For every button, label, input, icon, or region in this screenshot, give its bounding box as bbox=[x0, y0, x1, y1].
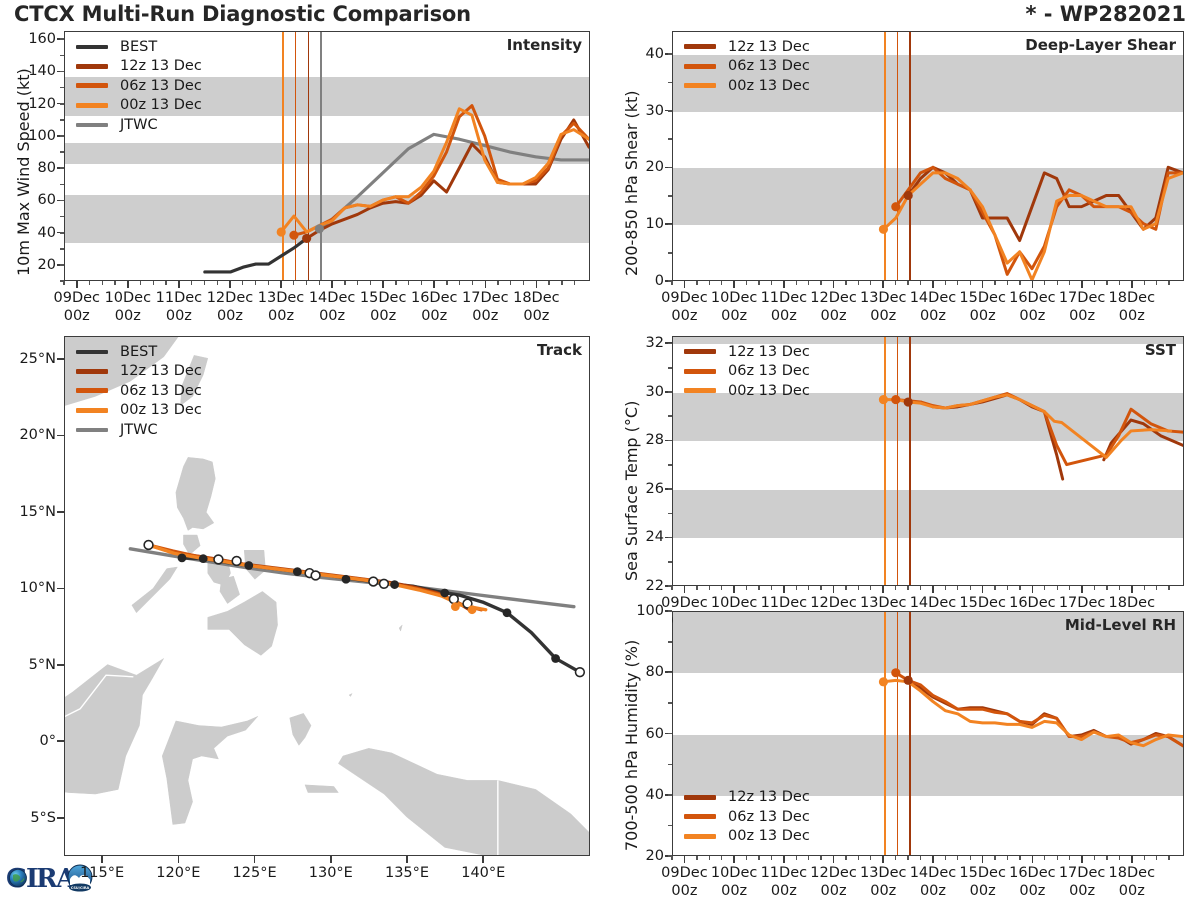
series-line-06z-13-dec bbox=[896, 673, 1183, 746]
legend-label-4: JTWC bbox=[120, 422, 158, 438]
track-marker-open-4 bbox=[311, 571, 320, 580]
track-marker-open-0 bbox=[144, 541, 153, 550]
p-sst-ytick-0: 22 bbox=[616, 578, 664, 594]
track-xtick-4: 135°E bbox=[367, 865, 447, 883]
series-line-best bbox=[205, 238, 307, 272]
storm-identifier: * - WP282021 bbox=[1025, 2, 1186, 26]
p-intensity-ytick-0: 20 bbox=[8, 257, 56, 273]
track-marker-forecast-1 bbox=[451, 602, 460, 611]
init-marker-1 bbox=[891, 668, 900, 677]
panel-intensity[interactable]: Intensity BEST12z 13 Dec06z 13 Dec00z 13… bbox=[64, 31, 590, 281]
xtick-hour: 00z bbox=[920, 308, 946, 324]
panel-mid-level-rh[interactable]: Mid-Level RH 12z 13 Dec06z 13 Dec00z 13 … bbox=[672, 611, 1184, 856]
track-title: Track bbox=[537, 341, 582, 359]
legend-label-2: 00z 13 Dec bbox=[728, 78, 810, 94]
legend-swatch-2 bbox=[76, 83, 108, 88]
legend-label-4: JTWC bbox=[120, 117, 158, 133]
page-title: CTCX Multi-Run Diagnostic Comparison bbox=[14, 2, 471, 26]
svg-text:CSU/CIRA: CSU/CIRA bbox=[71, 886, 90, 890]
legend-label-0: BEST bbox=[120, 344, 157, 360]
xtick-day: 18Dec bbox=[513, 290, 560, 306]
track-xtick-2: 125°E bbox=[215, 865, 295, 883]
legend-label-1: 12z 13 Dec bbox=[120, 58, 202, 74]
p-rh-xtick-9: 18Dec00z bbox=[1097, 865, 1167, 900]
track-marker-filled-6 bbox=[440, 589, 449, 598]
p-sst-ytick-1: 24 bbox=[616, 529, 664, 545]
legend-item-2: 06z 13 Dec bbox=[76, 76, 202, 96]
legend-swatch-1 bbox=[76, 369, 108, 374]
legend-swatch-1 bbox=[684, 369, 716, 374]
legend-item-1: 06z 13 Dec bbox=[684, 807, 810, 827]
legend-label-1: 06z 13 Dec bbox=[728, 809, 810, 825]
track-marker-filled-4 bbox=[342, 575, 351, 584]
legend-item-2: 06z 13 Dec bbox=[76, 381, 202, 401]
legend-swatch-2 bbox=[76, 388, 108, 393]
init-marker-0 bbox=[879, 395, 888, 404]
legend-label-1: 06z 13 Dec bbox=[728, 363, 810, 379]
init-marker-0 bbox=[879, 677, 888, 686]
track-marker-filled-2 bbox=[244, 561, 253, 570]
series-line-12z-13-dec bbox=[908, 167, 1183, 240]
legend-label-3: 00z 13 Dec bbox=[120, 402, 202, 418]
legend-swatch-0 bbox=[76, 45, 108, 49]
legend-swatch-4 bbox=[76, 428, 108, 432]
track-ytick-2: 5°N bbox=[4, 657, 56, 673]
legend-item-2: 00z 13 Dec bbox=[684, 381, 810, 401]
p-sst-ytick-4: 30 bbox=[616, 384, 664, 400]
p-shear-ytick-4: 40 bbox=[616, 46, 664, 62]
xtick-hour: 00z bbox=[671, 308, 697, 324]
legend-swatch-2 bbox=[684, 83, 716, 88]
legend-label-0: 12z 13 Dec bbox=[728, 789, 810, 805]
legend-item-2: 00z 13 Dec bbox=[684, 76, 810, 96]
track-legend: BEST12z 13 Dec06z 13 Dec00z 13 DecJTWC bbox=[76, 342, 202, 440]
xtick-hour: 00z bbox=[1069, 308, 1095, 324]
svg-text:R: R bbox=[36, 864, 58, 894]
p-intensity-ytick-2: 60 bbox=[8, 192, 56, 208]
panel-deep-layer-shear[interactable]: Deep-Layer Shear 12z 13 Dec06z 13 Dec00z… bbox=[672, 31, 1184, 281]
init-marker-0 bbox=[879, 225, 888, 234]
p-shear-ytick-2: 20 bbox=[616, 159, 664, 175]
legend-item-1: 06z 13 Dec bbox=[684, 362, 810, 382]
p-intensity-ytick-5: 120 bbox=[8, 96, 56, 112]
legend-item-0: 12z 13 Dec bbox=[684, 788, 810, 808]
xtick-hour: 00z bbox=[1119, 308, 1145, 324]
panel-track[interactable]: Track BEST12z 13 Dec06z 13 Dec00z 13 Dec… bbox=[64, 336, 590, 856]
intensity-title: Intensity bbox=[507, 36, 582, 54]
legend-swatch-2 bbox=[684, 388, 716, 393]
rh-title: Mid-Level RH bbox=[1065, 616, 1176, 634]
xtick-hour: 00z bbox=[370, 308, 396, 324]
legend-label-1: 12z 13 Dec bbox=[120, 363, 202, 379]
track-xtick-0: 115°E bbox=[62, 865, 142, 883]
track-ytick-4: 15°N bbox=[4, 504, 56, 520]
init-marker-1 bbox=[891, 202, 900, 211]
legend-swatch-2 bbox=[684, 834, 716, 839]
xtick-hour: 00z bbox=[721, 308, 747, 324]
legend-item-1: 12z 13 Dec bbox=[76, 57, 202, 77]
xtick-hour: 00z bbox=[64, 308, 90, 324]
track-ytick-0: 5°S bbox=[4, 810, 56, 826]
legend-item-2: 00z 13 Dec bbox=[684, 827, 810, 847]
init-marker-2 bbox=[904, 191, 913, 200]
p-shear-ytick-0: 0 bbox=[616, 273, 664, 289]
xtick-hour: 00z bbox=[1119, 883, 1145, 899]
xtick-hour: 00z bbox=[1019, 883, 1045, 899]
track-marker-open-1 bbox=[214, 555, 223, 564]
legend-label-1: 06z 13 Dec bbox=[728, 58, 810, 74]
track-ytick-1: 0° bbox=[4, 733, 56, 749]
track-marker-open-2 bbox=[232, 557, 241, 566]
init-marker-3 bbox=[315, 224, 324, 233]
legend-item-3: 00z 13 Dec bbox=[76, 401, 202, 421]
legend-label-2: 06z 13 Dec bbox=[120, 383, 202, 399]
track-marker-filled-0 bbox=[178, 554, 187, 563]
legend-label-0: 12z 13 Dec bbox=[728, 39, 810, 55]
track-marker-open-5 bbox=[369, 577, 378, 586]
sst-title: SST bbox=[1145, 341, 1176, 359]
xtick-hour: 00z bbox=[970, 308, 996, 324]
p-intensity-ytick-4: 100 bbox=[8, 128, 56, 144]
legend-swatch-4 bbox=[76, 123, 108, 127]
init-marker-2 bbox=[302, 234, 311, 243]
legend-swatch-1 bbox=[684, 814, 716, 819]
legend-swatch-0 bbox=[684, 44, 716, 49]
track-marker-filled-5 bbox=[390, 580, 399, 589]
xtick-day: 18Dec bbox=[1109, 865, 1156, 881]
xtick-hour: 00z bbox=[268, 308, 294, 324]
legend-item-1: 06z 13 Dec bbox=[684, 57, 810, 77]
legend-label-3: 00z 13 Dec bbox=[120, 97, 202, 113]
track-marker-open-9 bbox=[576, 668, 585, 677]
legend-swatch-1 bbox=[684, 64, 716, 69]
track-marker-forecast-0 bbox=[468, 605, 477, 614]
p-sst-ytick-5: 32 bbox=[616, 335, 664, 351]
p-rh-ytick-3: 80 bbox=[616, 664, 664, 680]
p-shear-ytick-3: 30 bbox=[616, 103, 664, 119]
legend-item-4: JTWC bbox=[76, 115, 202, 135]
xtick-day: 18Dec bbox=[1109, 290, 1156, 306]
rh-legend: 12z 13 Dec06z 13 Dec00z 13 Dec bbox=[684, 788, 810, 847]
xtick-hour: 00z bbox=[771, 883, 797, 899]
legend-item-3: 00z 13 Dec bbox=[76, 96, 202, 116]
init-marker-1 bbox=[289, 231, 298, 240]
track-xtick-3: 130°E bbox=[291, 865, 371, 883]
xtick-hour: 00z bbox=[523, 308, 549, 324]
init-marker-2 bbox=[904, 397, 913, 406]
sst-legend: 12z 13 Dec06z 13 Dec00z 13 Dec bbox=[684, 342, 810, 401]
legend-swatch-3 bbox=[76, 103, 108, 108]
legend-swatch-3 bbox=[76, 408, 108, 413]
p-rh-ytick-2: 60 bbox=[616, 726, 664, 742]
xtick-hour: 00z bbox=[671, 883, 697, 899]
init-marker-1 bbox=[891, 395, 900, 404]
track-marker-filled-7 bbox=[503, 608, 512, 617]
legend-label-2: 00z 13 Dec bbox=[728, 383, 810, 399]
p-sst-ytick-2: 26 bbox=[616, 481, 664, 497]
xtick-hour: 00z bbox=[870, 883, 896, 899]
xtick-hour: 00z bbox=[472, 308, 498, 324]
legend-label-2: 00z 13 Dec bbox=[728, 828, 810, 844]
legend-label-0: BEST bbox=[120, 39, 157, 55]
legend-item-1: 12z 13 Dec bbox=[76, 362, 202, 382]
p-intensity-ytick-3: 80 bbox=[8, 160, 56, 176]
xtick-hour: 00z bbox=[217, 308, 243, 324]
legend-item-0: BEST bbox=[76, 37, 202, 57]
track-marker-open-6 bbox=[380, 579, 389, 588]
p-rh-ytick-4: 100 bbox=[616, 603, 664, 619]
legend-item-0: 12z 13 Dec bbox=[684, 37, 810, 57]
p-rh-ytick-1: 40 bbox=[616, 787, 664, 803]
track-marker-filled-1 bbox=[199, 554, 208, 563]
legend-item-0: BEST bbox=[76, 342, 202, 362]
series-line-12z-13-dec bbox=[908, 682, 1183, 746]
p-intensity-ytick-1: 40 bbox=[8, 225, 56, 241]
p-intensity-ytick-6: 140 bbox=[8, 63, 56, 79]
p-rh-ytick-0: 20 bbox=[616, 848, 664, 864]
legend-item-4: JTWC bbox=[76, 420, 202, 440]
xtick-hour: 00z bbox=[319, 308, 345, 324]
p-intensity-ytick-7: 160 bbox=[8, 31, 56, 47]
shear-legend: 12z 13 Dec06z 13 Dec00z 13 Dec bbox=[684, 37, 810, 96]
xtick-hour: 00z bbox=[1069, 883, 1095, 899]
legend-swatch-1 bbox=[76, 64, 108, 69]
legend-swatch-0 bbox=[684, 795, 716, 800]
init-marker-2 bbox=[904, 676, 913, 685]
xtick-hour: 00z bbox=[721, 883, 747, 899]
legend-label-0: 12z 13 Dec bbox=[728, 344, 810, 360]
xtick-hour: 00z bbox=[166, 308, 192, 324]
xtick-hour: 00z bbox=[821, 308, 847, 324]
xtick-hour: 00z bbox=[920, 883, 946, 899]
xtick-hour: 00z bbox=[970, 883, 996, 899]
track-ytick-5: 20°N bbox=[4, 427, 56, 443]
shear-title: Deep-Layer Shear bbox=[1025, 36, 1176, 54]
p-shear-ytick-1: 10 bbox=[616, 216, 664, 232]
legend-swatch-0 bbox=[76, 350, 108, 354]
track-xtick-5: 140°E bbox=[443, 865, 523, 883]
xtick-day: 18Dec bbox=[1109, 595, 1156, 611]
xtick-hour: 00z bbox=[870, 308, 896, 324]
track-marker-filled-8 bbox=[551, 654, 560, 663]
legend-item-0: 12z 13 Dec bbox=[684, 342, 810, 362]
p-shear-xtick-9: 18Dec00z bbox=[1097, 290, 1167, 325]
xtick-hour: 00z bbox=[1019, 308, 1045, 324]
xtick-hour: 00z bbox=[115, 308, 141, 324]
track-marker-open-7 bbox=[449, 595, 458, 604]
xtick-hour: 00z bbox=[421, 308, 447, 324]
xtick-hour: 00z bbox=[771, 308, 797, 324]
track-xtick-1: 120°E bbox=[138, 865, 218, 883]
xtick-hour: 00z bbox=[821, 883, 847, 899]
p-intensity-xtick-9: 18Dec00z bbox=[501, 290, 571, 325]
panel-sst[interactable]: SST 12z 13 Dec06z 13 Dec00z 13 Dec bbox=[672, 336, 1184, 586]
p-sst-ytick-3: 28 bbox=[616, 432, 664, 448]
track-marker-filled-3 bbox=[293, 567, 302, 576]
legend-swatch-0 bbox=[684, 349, 716, 354]
series-line-00z-13-dec bbox=[281, 109, 589, 232]
track-ytick-3: 10°N bbox=[4, 580, 56, 596]
legend-label-2: 06z 13 Dec bbox=[120, 78, 202, 94]
track-ytick-6: 25°N bbox=[4, 351, 56, 367]
track-line-best bbox=[182, 558, 580, 672]
intensity-legend: BEST12z 13 Dec06z 13 Dec00z 13 DecJTWC bbox=[76, 37, 202, 135]
init-marker-0 bbox=[277, 227, 286, 236]
